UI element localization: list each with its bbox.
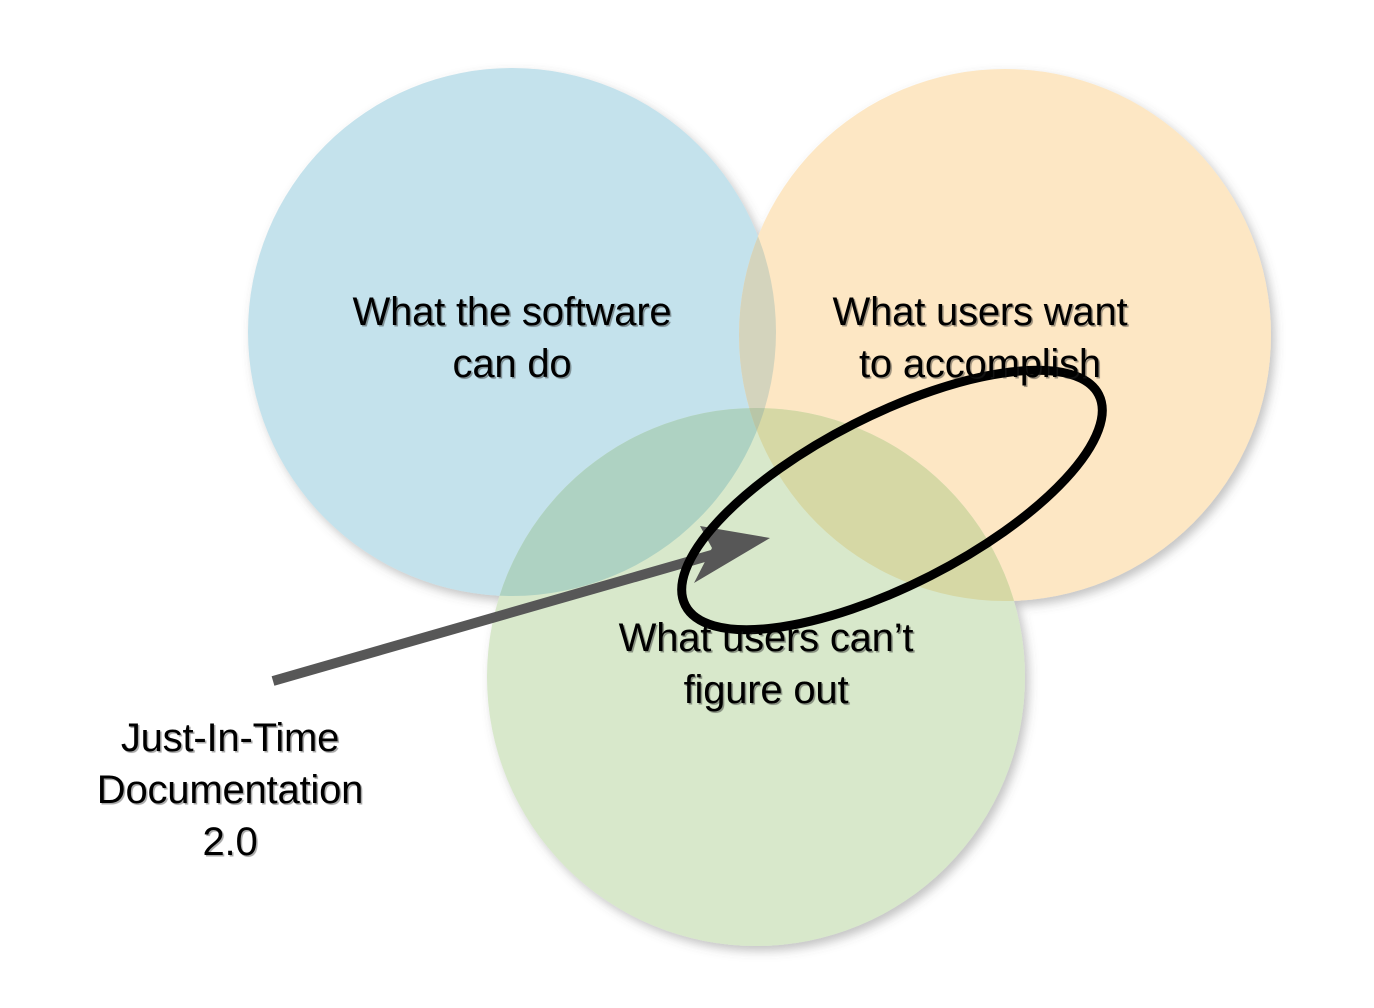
venn-circles-group [248,68,1271,946]
venn-diagram-canvas: What the software can do What users want… [0,0,1374,1008]
venn-diagram-graphic [0,0,1374,1008]
